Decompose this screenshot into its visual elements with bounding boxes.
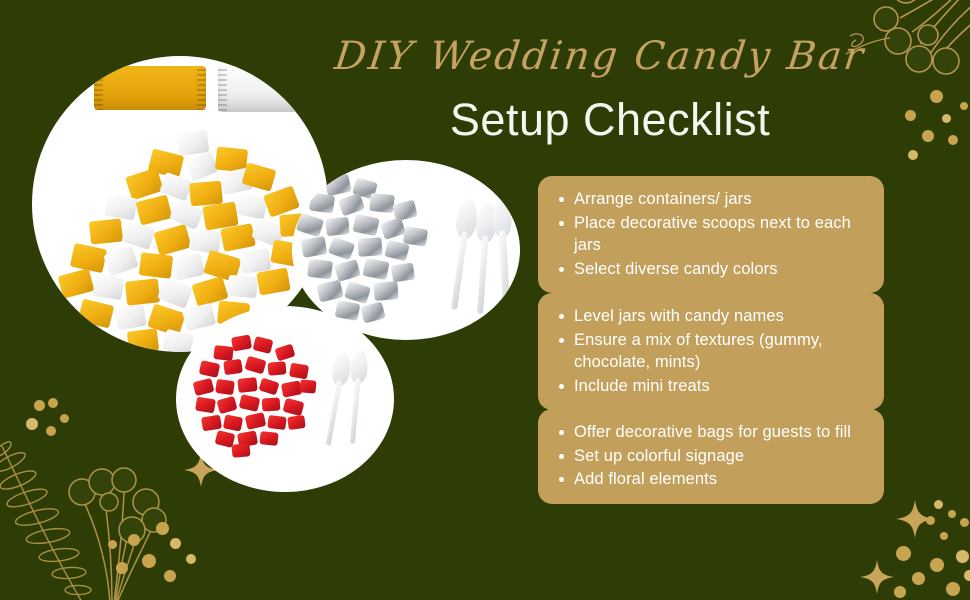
page-title-subtitle: Setup Checklist [330, 92, 890, 148]
list-item: Ensure a mix of textures (gummy, chocola… [574, 329, 868, 374]
photo-red-candy-and-scoops [176, 306, 394, 492]
poster-canvas: DIY Wedding Candy Bar Setup Checklist Ar… [0, 0, 970, 600]
checklist-card: Offer decorative bags for guests to fill… [538, 409, 884, 504]
checklist-list: Offer decorative bags for guests to fill… [552, 421, 868, 491]
silver-candy-pile [296, 176, 426, 326]
checklist-list: Level jars with candy names Ensure a mix… [552, 305, 868, 397]
sparkle-icon [860, 560, 894, 594]
gold-dots [16, 396, 76, 442]
gold-dots [108, 516, 218, 594]
list-item: Include mini treats [574, 375, 868, 398]
gold-dots [890, 90, 970, 210]
dandelion-stems-icon [62, 440, 167, 600]
fern-leaf-icon [0, 440, 116, 600]
checklist-card: Level jars with candy names Ensure a mix… [538, 293, 884, 410]
list-item: Select diverse candy colors [574, 258, 868, 281]
list-item: Set up colorful signage [574, 445, 868, 468]
scoop-icon [491, 198, 516, 307]
list-item: Place decorative scoops next to each jar… [574, 212, 868, 257]
list-item: Add floral elements [574, 468, 868, 491]
list-item: Offer decorative bags for guests to fill [574, 421, 868, 444]
sparkle-icon [896, 500, 934, 538]
list-item: Level jars with candy names [574, 305, 868, 328]
checklist-list: Arrange containers/ jars Place decorativ… [552, 188, 868, 280]
checklist-card: Arrange containers/ jars Place decorativ… [538, 176, 884, 293]
list-item: Arrange containers/ jars [574, 188, 868, 211]
page-title-script: DIY Wedding Candy Bar [297, 30, 904, 84]
red-candy-pile [192, 336, 316, 458]
